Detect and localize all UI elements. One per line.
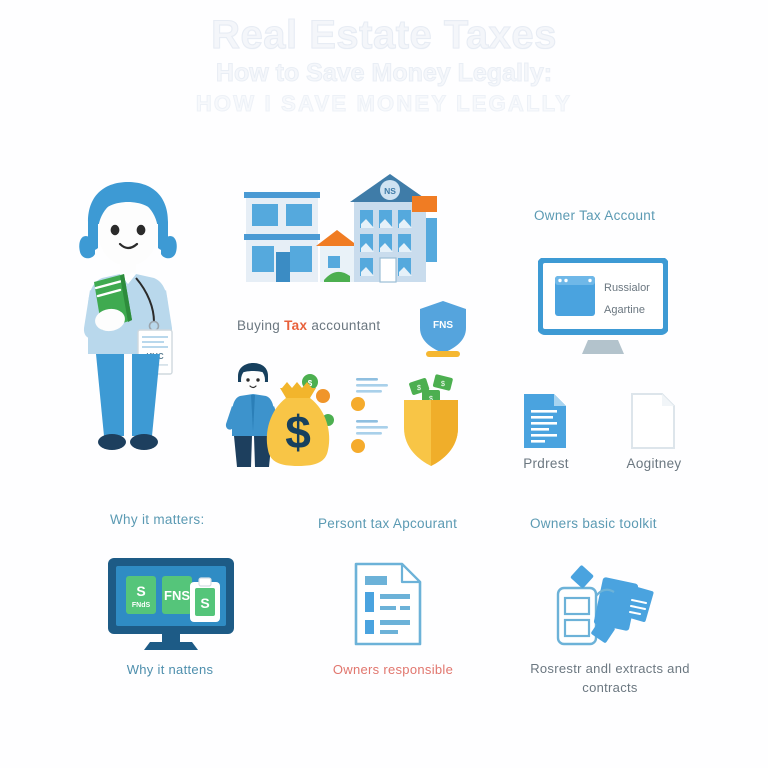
desktop-monitor-icon: S FNdS FNS S xyxy=(106,556,236,652)
checklist xyxy=(351,378,388,453)
page-title: Real Estate Taxes xyxy=(0,14,768,57)
building-badge-text: NS xyxy=(384,186,396,196)
page-subtitle: How to Save Money Legally: xyxy=(0,59,768,88)
money-bag-symbol: $ xyxy=(285,406,311,458)
buying-tax-label: Buying Tax accountant xyxy=(237,318,380,333)
svg-text:$: $ xyxy=(441,381,445,388)
bottom-heading-persont: Persont tax Apcourant xyxy=(318,516,457,531)
page-title-caps: HOW I SAVE MONEY LEGALLY xyxy=(0,91,768,117)
document-cluster-icon xyxy=(552,562,654,650)
monitor-illustration: Russialor Agartine xyxy=(538,258,668,356)
monitor-line-2: Agartine xyxy=(604,304,645,316)
document-white-label: Aogitney xyxy=(620,456,688,471)
svg-text:$: $ xyxy=(417,385,421,392)
fns-shield-text: FNS xyxy=(433,320,453,331)
buying-tax-suffix: accountant xyxy=(307,318,380,333)
bottom-heading-toolkit: Owners basic toolkit xyxy=(530,516,657,531)
shield-with-cash: $ $ $ xyxy=(404,374,458,466)
monitor-card1-main: S xyxy=(136,583,145,599)
fns-shield-icon: FNS xyxy=(412,298,474,360)
title-block: Real Estate Taxes How to Save Money Lega… xyxy=(0,14,768,117)
bottom-heading-why: Why it matters: xyxy=(110,512,205,527)
infographic-canvas: Real Estate Taxes How to Save Money Lega… xyxy=(0,0,768,768)
woman-illustration: ИНС xyxy=(62,178,194,462)
document-blue-label: Prdrest xyxy=(520,456,572,471)
buildings-illustration: NS xyxy=(232,168,437,286)
bottom-caption-owners: Owners responsible xyxy=(318,662,468,677)
bottom-caption-why: Why it nattens xyxy=(100,662,240,677)
owner-tax-account-heading: Owner Tax Account xyxy=(534,208,655,223)
document-blue-icon xyxy=(520,392,570,450)
monitor-card2: FNS xyxy=(164,588,190,603)
tax-highlight: Tax xyxy=(284,318,307,333)
document-white-icon xyxy=(628,392,678,450)
monitor-line-1: Russialor xyxy=(604,282,650,294)
monitor-card1-sub: FNdS xyxy=(132,602,151,609)
money-scene-illustration: $ $ xyxy=(218,362,468,470)
buying-tax-prefix: Buying xyxy=(237,318,284,333)
bottom-caption-rosrestr: Rosrestr andl extracts and contracts xyxy=(520,660,700,698)
document-outline-icon xyxy=(352,560,424,648)
monitor-clipboard-letter: S xyxy=(200,595,209,611)
